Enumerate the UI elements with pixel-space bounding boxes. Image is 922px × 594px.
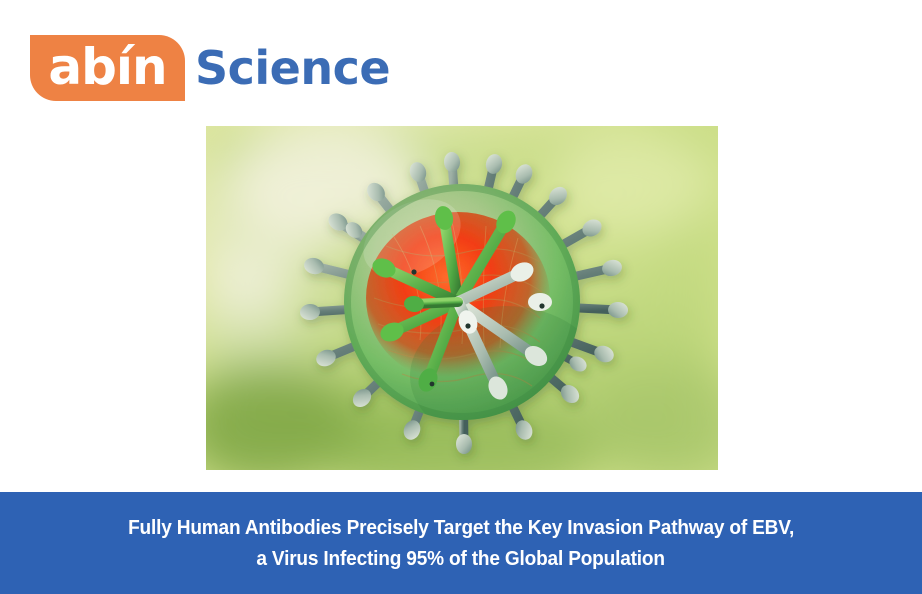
caption-line-1: Fully Human Antibodies Precisely Target … <box>128 512 794 543</box>
brand-logo[interactable]: abín Science <box>30 35 390 101</box>
brand-logo-mark-text: abín <box>42 42 172 92</box>
virus-illustration <box>206 126 718 470</box>
news-card-page: abín Science <box>0 0 922 594</box>
hero-image <box>206 126 718 470</box>
brand-logo-mark: abín <box>30 35 185 101</box>
caption-banner: Fully Human Antibodies Precisely Target … <box>0 492 922 594</box>
brand-logo-word: Science <box>195 45 390 91</box>
caption-line-2: a Virus Infecting 95% of the Global Popu… <box>257 543 665 574</box>
site-header: abín Science <box>30 34 390 102</box>
